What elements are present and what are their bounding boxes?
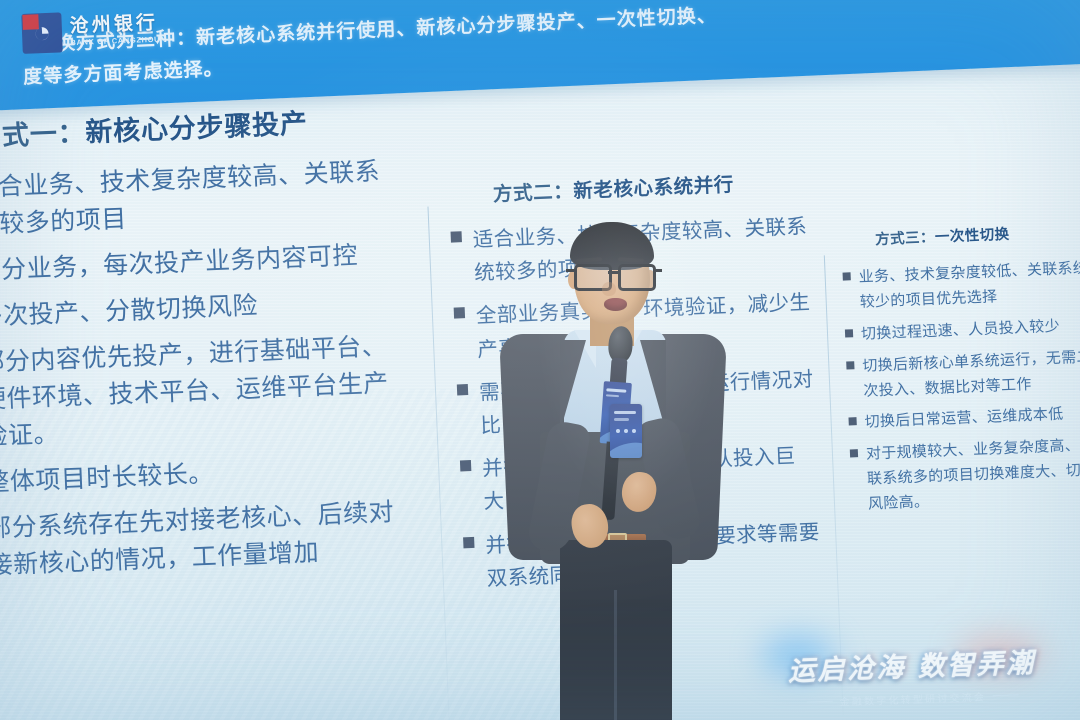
slide-column-one: 方式一：新核心分步骤投产 适合业务、技术复杂度较高、关联系统较多的项目 拆分业务… (0, 98, 405, 595)
subtitle-rule-right (993, 694, 1019, 696)
bullet-item: 整体项目时长较长。 (0, 448, 401, 503)
trouser-centre-crease (614, 590, 617, 720)
column-three-title: 方式三：一次性切换 (875, 219, 1080, 249)
glasses-temple-right (654, 269, 662, 272)
column-two-title-lead: 方式二： (493, 181, 574, 206)
square-bullet-icon (457, 384, 468, 395)
speaker-figure (498, 222, 728, 720)
badge-dots (616, 429, 636, 433)
column-three-title-lead: 方式三： (875, 230, 935, 248)
bullet-text: 拆分业务，每次投产业务内容可控 (0, 237, 359, 290)
bullet-text: 切换后日常运营、运维成本低 (864, 403, 1064, 436)
slide-column-three: 方式三：一次性切换 业务、技术复杂度较低、关联系统较少的项目优先选择 切换过程迅… (835, 70, 1080, 526)
bullet-text: 切换过程迅速、人员投入较少 (861, 315, 1061, 348)
badge-line-1 (614, 411, 636, 414)
bullet-text: 适合业务、技术复杂度较高、关联系统较多的项目 (0, 153, 390, 244)
jacket-lapel-left (560, 340, 586, 432)
bullet-item: 切换后日常运营、运维成本低 (848, 402, 1080, 437)
bullet-item: 对于规模较大、业务复杂度高、关联系统多的项目切换难度大、切换风险高。 (850, 434, 1080, 519)
bullet-item: 切换过程迅速、人员投入较少 (845, 313, 1080, 348)
bullet-item: 部分系统存在先对接老核心、后续对接新核心的情况，工作量增加 (0, 494, 404, 586)
column-divider-1 (427, 207, 449, 720)
column-one-title-main: 新核心分步骤投产 (85, 108, 309, 147)
hair (570, 222, 654, 270)
bullet-item: 多次投产、分散切换风险 (0, 282, 394, 337)
mic-flag-line-2 (606, 394, 619, 397)
nose (602, 282, 616, 296)
event-watermark: 运启沧海数智弄潮 金融数字化转型研讨交流会 (761, 640, 1063, 711)
square-bullet-icon (454, 308, 465, 319)
square-bullet-icon (843, 272, 851, 280)
glasses-temple-left (566, 269, 574, 272)
bullet-item: 拆分业务，每次投产业务内容可控 (0, 236, 392, 291)
bullet-item: 切换后新核心单系统运行，无需二次投入、数据比对等工作 (846, 345, 1080, 405)
event-title-part1: 运启沧海 (788, 652, 907, 686)
glasses-bridge (608, 271, 620, 274)
bullet-text: 部分系统存在先对接老核心、后续对接新核心的情况，工作量增加 (0, 494, 404, 585)
conference-photo: 方式一：新核心分步骤投产 适合业务、技术复杂度较高、关联系统较多的项目 拆分业务… (0, 0, 1080, 720)
badge-line-2 (614, 418, 629, 421)
bank-name-en: BANK OF CANGZHOU (70, 36, 160, 47)
square-bullet-icon (460, 460, 471, 471)
column-one-bullets: 适合业务、技术复杂度较高、关联系统较多的项目 拆分业务，每次投产业务内容可控 多… (0, 153, 404, 586)
square-bullet-icon (451, 231, 462, 242)
square-bullet-icon (463, 537, 474, 548)
square-bullet-icon (850, 449, 858, 457)
bullet-item: 适合业务、技术复杂度较高、关联系统较多的项目 (0, 153, 390, 245)
bullet-text: 多次投产、分散切换风险 (0, 288, 259, 336)
bullet-text: 部分内容优先投产，进行基础平台、硬件环境、技术平台、运维平台生产验证。 (0, 328, 399, 456)
mic-flag-line-1 (606, 388, 626, 392)
banner-text-line-2: 度等多方面考虑选择。 (23, 54, 224, 90)
bullet-text: 业务、技术复杂度较低、关联系统较少的项目优先选择 (858, 256, 1080, 315)
square-bullet-icon (849, 418, 857, 426)
event-title-part2: 数智弄潮 (917, 648, 1036, 682)
conference-badge (610, 404, 642, 458)
column-two-title: 方式二：新老核心系统并行 (492, 165, 819, 207)
subtitle-rule-left (807, 701, 833, 703)
bank-logo-mark-icon: ◔ (21, 12, 63, 54)
logo-glyph: ◔ (21, 12, 63, 54)
mouth (604, 298, 627, 311)
bullet-text: 切换后新核心单系统运行，无需二次投入、数据比对等工作 (862, 345, 1080, 404)
column-one-title-lead: 方式一： (0, 118, 86, 153)
column-two-title-main: 新老核心系统并行 (573, 174, 734, 203)
bullet-item: 部分内容优先投产，进行基础平台、硬件环境、技术平台、运维平台生产验证。 (0, 328, 399, 457)
bank-logo-text: 沧州银行 BANK OF CANGZHOU (69, 14, 160, 47)
bullet-text: 对于规模较大、业务复杂度高、关联系统多的项目切换难度大、切换风险高。 (866, 434, 1080, 518)
square-bullet-icon (845, 329, 853, 337)
bank-logo: ◔ 沧州银行 BANK OF CANGZHOU (21, 5, 175, 57)
glasses-lens-right (618, 264, 656, 291)
bank-name-cn: 沧州银行 (69, 14, 159, 36)
badge-swoosh (610, 438, 642, 458)
column-three-bullets: 业务、技术复杂度较低、关联系统较少的项目优先选择 切换过程迅速、人员投入较少 切… (842, 256, 1080, 518)
square-bullet-icon (846, 361, 854, 369)
column-three-title-main: 一次性切换 (935, 227, 1010, 246)
bullet-item: 业务、技术复杂度较低、关联系统较少的项目优先选择 (842, 256, 1080, 316)
bullet-text: 整体项目时长较长。 (0, 456, 215, 502)
